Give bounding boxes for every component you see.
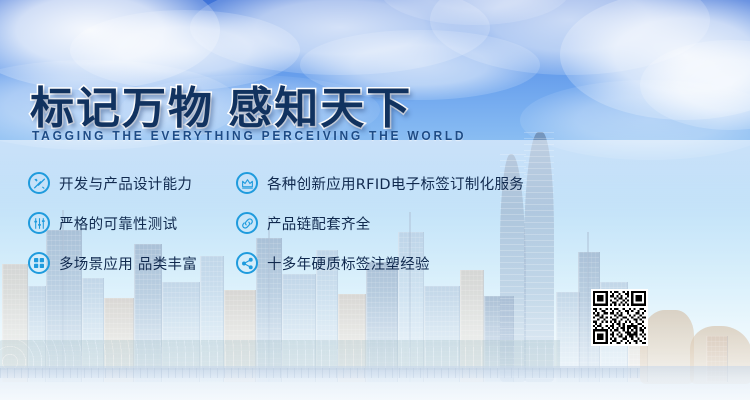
feature-label: 各种创新应用RFID电子标签订制化服务 xyxy=(267,173,524,194)
qr-code[interactable] xyxy=(591,289,648,346)
share-icon xyxy=(236,252,258,274)
qr-code-image xyxy=(593,291,646,344)
crown-icon xyxy=(236,172,258,194)
feature-label: 严格的可靠性测试 xyxy=(59,213,177,234)
feature-item-product-chain: 产品链配套齐全 xyxy=(236,212,371,234)
grid-icon xyxy=(28,252,50,274)
feature-item-multi-scenario: 多场景应用 品类丰富 xyxy=(28,252,197,274)
sliders-icon xyxy=(28,212,50,234)
feature-label: 十多年硬质标签注塑经验 xyxy=(267,253,430,274)
feature-label: 开发与产品设计能力 xyxy=(59,173,192,194)
feature-label: 产品链配套齐全 xyxy=(267,213,371,234)
feature-item-reliability-test: 严格的可靠性测试 xyxy=(28,212,177,234)
feature-label: 多场景应用 品类丰富 xyxy=(59,253,197,274)
feature-item-development: 开发与产品设计能力 xyxy=(28,172,192,194)
promo-banner: 标记万物 感知天下 TAGGING THE EVERYTHING PERCEIV… xyxy=(0,0,750,400)
tools-icon xyxy=(28,172,50,194)
link-icon xyxy=(236,212,258,234)
feature-item-molding-experience: 十多年硬质标签注塑经验 xyxy=(236,252,430,274)
feature-item-rfid-custom-service: 各种创新应用RFID电子标签订制化服务 xyxy=(236,172,524,194)
